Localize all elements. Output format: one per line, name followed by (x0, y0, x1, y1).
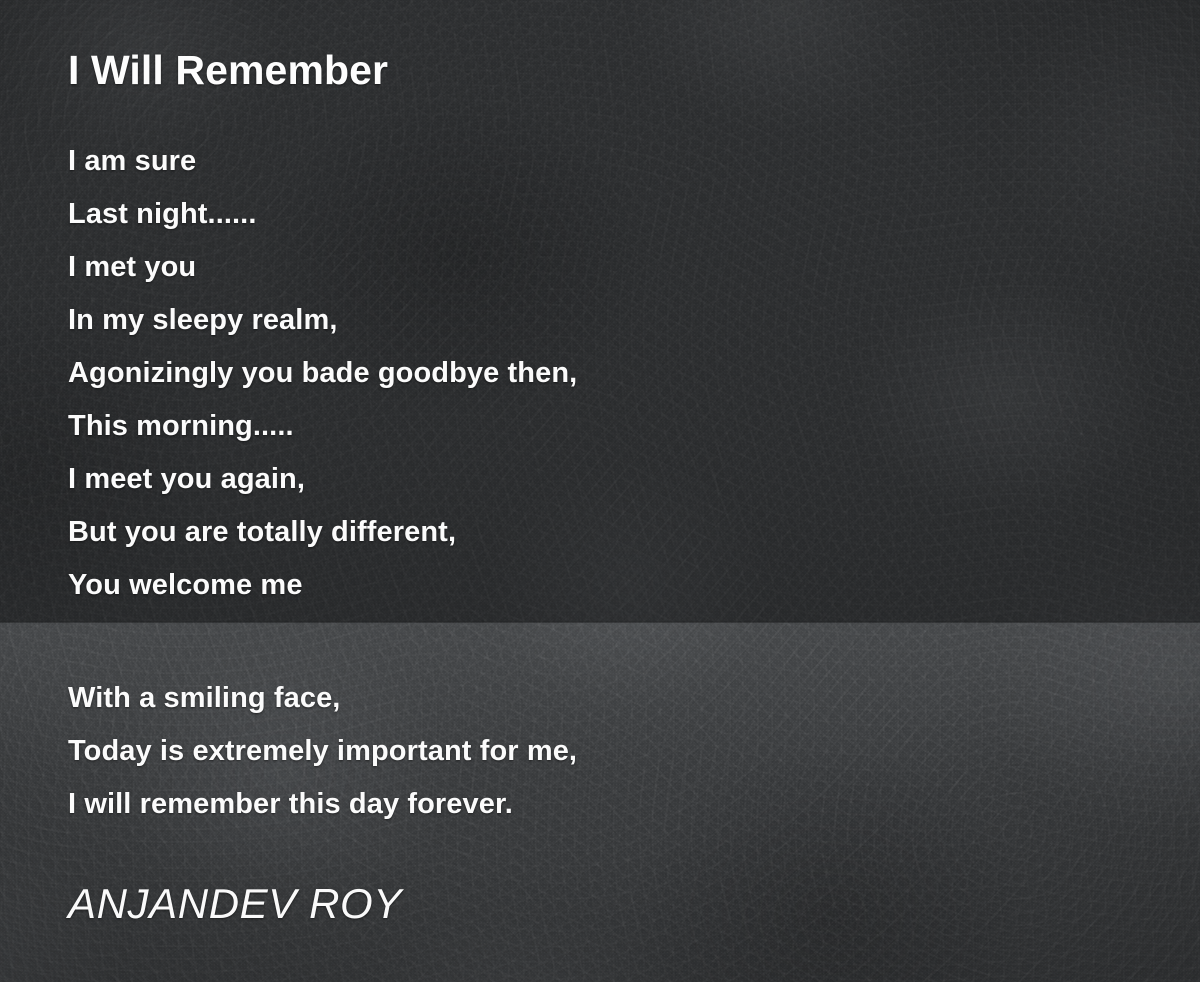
poem-line: I met you (68, 241, 1140, 294)
poem-line: I am sure (68, 135, 1140, 188)
poem-line: With a smiling face, (68, 672, 1140, 725)
poem-title: I Will Remember (68, 0, 1140, 92)
poem-line: Last night...... (68, 188, 1140, 241)
poem-line: But you are totally different, (68, 506, 1140, 559)
poem-content: I Will Remember I am sure Last night....… (0, 0, 1200, 982)
poem-line: I meet you again, (68, 453, 1140, 506)
poem-line: Today is extremely important for me, (68, 725, 1140, 778)
poem-image-card: I Will Remember I am sure Last night....… (0, 0, 1200, 982)
poem-line: I will remember this day forever. (68, 778, 1140, 831)
poem-line: In my sleepy realm, (68, 294, 1140, 347)
poem-line: You welcome me (68, 559, 1140, 612)
poem-line: This morning..... (68, 400, 1140, 453)
poem-stanza-1: I am sure Last night...... I met you In … (68, 135, 1140, 612)
poem-stanza-2: With a smiling face, Today is extremely … (68, 612, 1140, 831)
poem-author-signature: ANJANDEV ROY (68, 831, 1140, 928)
poem-line: Agonizingly you bade goodbye then, (68, 347, 1140, 400)
